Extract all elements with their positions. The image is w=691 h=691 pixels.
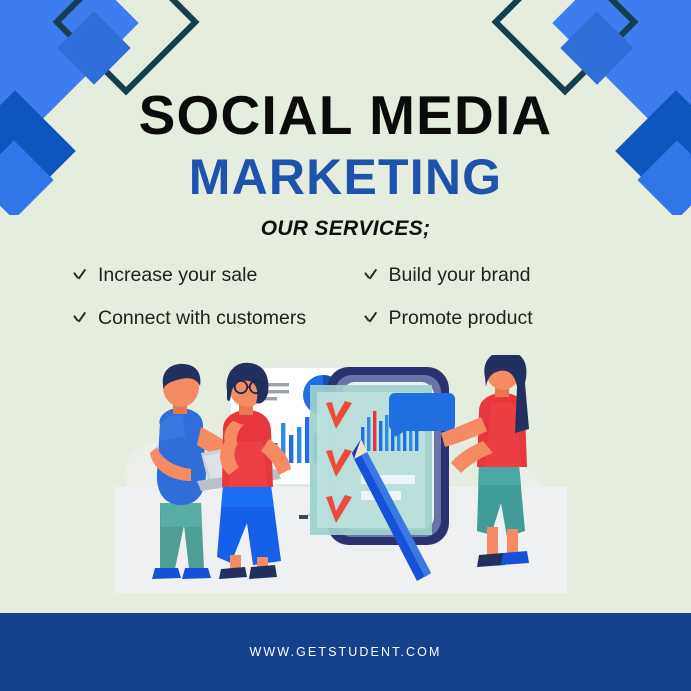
service-item-label: Promote product <box>389 307 533 330</box>
service-item-promote-product: Promote product <box>363 307 636 330</box>
service-item-build-your-brand: Build your brand <box>363 264 636 287</box>
service-item-label: Increase your sale <box>98 264 257 287</box>
diamond-outline-icon <box>52 0 199 96</box>
check-icon <box>363 268 378 283</box>
footer-website-url[interactable]: WWW.GETSTUDENT.COM <box>250 645 442 659</box>
service-item-increase-your-sale: Increase your sale <box>72 264 345 287</box>
service-item-label: Build your brand <box>389 264 531 287</box>
footer-bar: WWW.GETSTUDENT.COM <box>0 613 691 691</box>
poster-canvas: SOCIAL MEDIA MARKETING OUR SERVICES; Inc… <box>0 0 691 691</box>
check-icon <box>363 311 378 326</box>
team-analytics-illustration <box>105 355 575 617</box>
page-title-line1: SOCIAL MEDIA <box>0 88 691 143</box>
page-title-line2: MARKETING <box>0 152 691 202</box>
service-item-connect-with-customers: Connect with customers <box>72 307 345 330</box>
speech-bubble <box>389 393 455 437</box>
check-icon <box>72 311 87 326</box>
services-list: Increase your sale Build your brand Conn… <box>72 264 635 330</box>
diamond-outline-icon <box>491 0 638 96</box>
diamond-medium-blue-icon <box>57 11 131 85</box>
check-icon <box>72 268 87 283</box>
services-label: OUR SERVICES; <box>0 217 691 241</box>
service-item-label: Connect with customers <box>98 307 306 330</box>
diamond-medium-blue-icon <box>560 11 634 85</box>
